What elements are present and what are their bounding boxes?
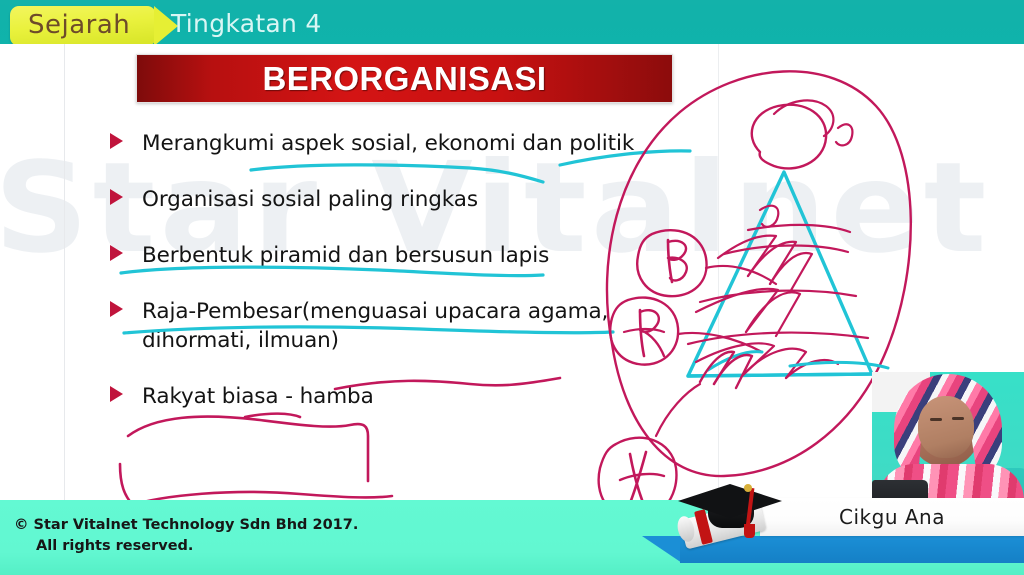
arrow-bullet-icon (110, 301, 123, 317)
pink-apex-circle-inner (774, 100, 833, 136)
pink-apex-circle (752, 105, 826, 169)
copyright-line-1: © Star Vitalnet Technology Sdn Bhd 2017. (14, 517, 358, 533)
bullet-text: Merangkumi aspek sosial, ekonomi dan pol… (142, 131, 634, 156)
bullet-list: Merangkumi aspek sosial, ekonomi dan pol… (110, 129, 710, 438)
lesson-video-frame: Sejarah Tingkatan 4 Star Vitalnet BERORG… (0, 0, 1024, 575)
arrow-bullet-icon (110, 386, 123, 402)
presenter-eye-right (952, 417, 964, 420)
page-guide-line-right (718, 44, 719, 514)
bullet-text: Berbentuk piramid dan bersusun lapis (142, 243, 549, 268)
pink-apex-hook (836, 124, 852, 145)
cap-button (744, 484, 752, 492)
page-guide-line-left (64, 44, 65, 514)
slide-canvas: Star Vitalnet BERORGANISASI Merangkumi a… (0, 44, 1024, 514)
presenter-eye-left (930, 418, 942, 421)
copyright-line-2: All rights reserved. (14, 536, 434, 557)
arrow-bullet-icon (110, 133, 123, 149)
list-item: Merangkumi aspek sosial, ekonomi dan pol… (110, 129, 710, 158)
list-item: Organisasi sosial paling ringkas (110, 185, 710, 214)
graduation-cap-icon (664, 480, 794, 566)
pink-pyramid-layer-scribbles (688, 206, 868, 378)
bullet-text: Organisasi sosial paling ringkas (142, 187, 478, 212)
cyan-stray-marks (708, 352, 888, 370)
presenter-face (918, 396, 974, 458)
subject-tab-label: Sejarah (28, 10, 130, 40)
cyan-pyramid-triangle (688, 172, 872, 376)
bullet-text: Rakyat biasa - hamba (142, 384, 374, 409)
arrow-bullet-icon (110, 189, 123, 205)
presenter-nameplate: Cikgu Ana (760, 498, 1024, 536)
cap-tassel-knot (744, 524, 755, 538)
list-item: Berbentuk piramid dan bersusun lapis (110, 241, 710, 270)
list-item: Rakyat biasa - hamba (110, 382, 710, 411)
copyright-notice: © Star Vitalnet Technology Sdn Bhd 2017.… (14, 515, 434, 557)
list-item: Raja-Pembesar(menguasai upacara agama, d… (110, 297, 710, 355)
presenter-name: Cikgu Ana (839, 505, 945, 529)
slide-title-banner: BERORGANISASI (136, 54, 673, 103)
pink-leader-line-B (706, 266, 776, 284)
form-level-label: Tingkatan 4 (171, 9, 322, 38)
subject-tab[interactable]: Sejarah (10, 6, 156, 46)
bullet-text: Raja-Pembesar(menguasai upacara agama, d… (142, 299, 608, 353)
arrow-bullet-icon (110, 245, 123, 261)
slide-title: BERORGANISASI (263, 60, 547, 98)
